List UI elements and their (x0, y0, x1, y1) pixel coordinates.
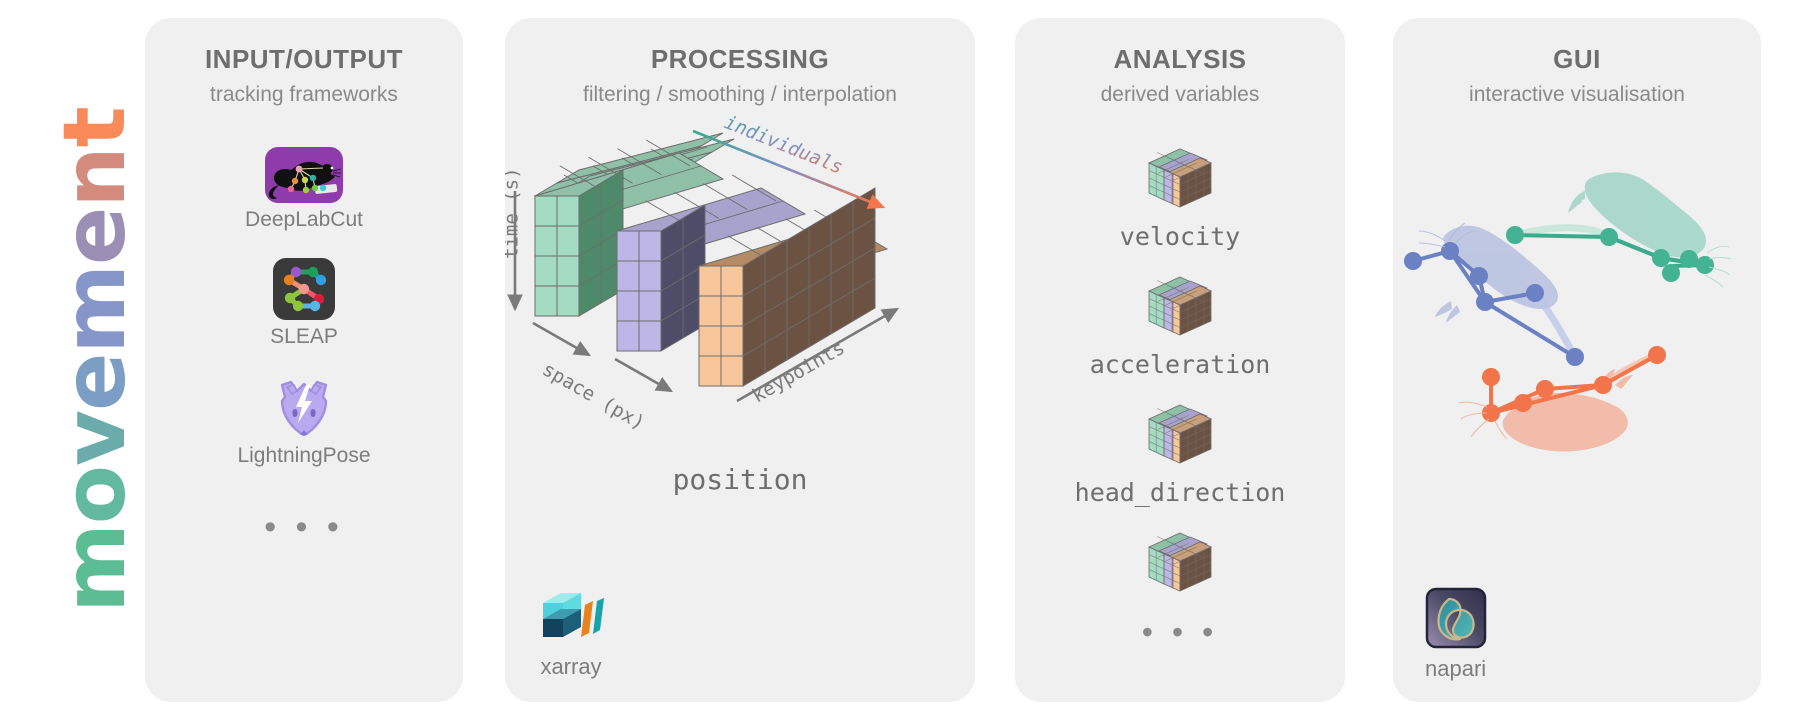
tracked-individual-orange (1459, 346, 1666, 452)
framework-label-deeplabcut: DeepLabCut (245, 208, 363, 232)
xarray-label: xarray (540, 654, 601, 680)
derived-variable-label-velocity: velocity (1120, 222, 1240, 251)
panel-subtitle-gui: interactive visualisation (1393, 83, 1761, 107)
brand-letter: e (52, 208, 138, 265)
tracked-individual-blue (1404, 223, 1584, 366)
mini-cube-icon (1143, 527, 1217, 602)
tracked-individual-green (1506, 172, 1731, 287)
brand-letter: v (52, 411, 138, 466)
xarray-logo-icon (537, 585, 605, 652)
framework-deeplabcut[interactable]: DeepLabCut (245, 147, 363, 232)
derived-variable-more: • • • (1142, 527, 1218, 648)
panel-processing: PROCESSING filtering / smoothing / inter… (505, 18, 975, 702)
derived-variable-head-direction[interactable]: head_direction (1075, 399, 1286, 507)
framework-sleap[interactable]: SLEAP (270, 258, 338, 349)
panel-subtitle-processing: filtering / smoothing / interpolation (505, 83, 975, 107)
lightningpose-logo-icon (270, 375, 338, 439)
brand-letter: e (52, 354, 138, 411)
framework-label-sleap: SLEAP (270, 325, 338, 349)
data-array-diagram: time (s) space (px) keypoints individual… (505, 111, 975, 441)
mini-cube-icon (1143, 143, 1217, 218)
panel-title-analysis: ANALYSIS (1015, 44, 1345, 75)
panel-input-output: INPUT/OUTPUT tracking frameworks (145, 18, 463, 702)
napari-label: napari (1425, 656, 1486, 682)
brand-letter: o (52, 466, 138, 524)
panel-subtitle-input-output: tracking frameworks (145, 83, 463, 107)
movement-logo-text: movement (52, 107, 138, 612)
derived-variable-acceleration[interactable]: acceleration (1090, 271, 1271, 379)
derived-variable-velocity[interactable]: velocity (1120, 143, 1240, 251)
derived-variable-list: velocity (1015, 143, 1345, 648)
panel-title-input-output: INPUT/OUTPUT (145, 44, 463, 75)
framework-label-lightningpose: LightningPose (237, 444, 370, 468)
napari-logo-icon (1425, 587, 1487, 654)
framework-ellipsis: • • • (264, 510, 344, 544)
panel-title-processing: PROCESSING (505, 44, 975, 75)
brand-letter: m (52, 265, 138, 354)
napari-library[interactable]: napari (1425, 587, 1487, 682)
axis-label-time: time (s) (505, 167, 523, 259)
xarray-library[interactable]: xarray (537, 585, 605, 680)
infographic-root: movement INPUT/OUTPUT tracking framework… (0, 0, 1801, 720)
brand-letter: t (52, 107, 138, 147)
brand-letter: n (52, 147, 138, 207)
panel-gui: GUI interactive visualisation (1393, 18, 1761, 702)
derived-variable-label-head-direction: head_direction (1075, 478, 1286, 507)
deeplabcut-logo-icon (265, 147, 343, 203)
framework-list: DeepLabCut (145, 147, 463, 544)
panel-title-gui: GUI (1393, 44, 1761, 75)
slab-purple-ext (705, 179, 749, 325)
framework-lightningpose[interactable]: LightningPose (237, 375, 370, 468)
panel-analysis: ANALYSIS derived variables (1015, 18, 1345, 702)
mini-cube-icon (1143, 399, 1217, 474)
derived-variable-ellipsis: • • • (1142, 616, 1218, 648)
mini-cube-icon (1143, 271, 1217, 346)
axis-label-individuals: individuals (721, 111, 846, 179)
sleap-logo-icon (273, 258, 335, 320)
tracking-visualisation[interactable] (1393, 113, 1761, 543)
derived-variable-label-acceleration: acceleration (1090, 350, 1271, 379)
brand-letter: m (52, 524, 138, 613)
movement-logo: movement (40, 120, 150, 600)
panel-subtitle-analysis: derived variables (1015, 83, 1345, 107)
data-array-name: position (505, 463, 975, 496)
